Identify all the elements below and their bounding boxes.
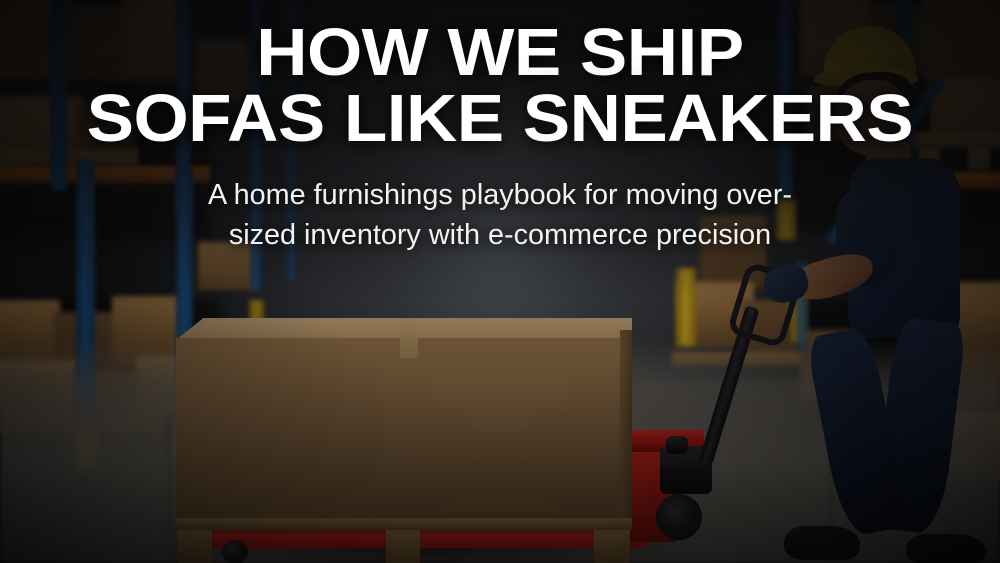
text-overlay: HOW WE SHIP SOFAS LIKE SNEAKERS A home f… bbox=[0, 0, 1000, 563]
page-title: HOW WE SHIP SOFAS LIKE SNEAKERS bbox=[87, 20, 914, 153]
slide-canvas: HOW WE SHIP SOFAS LIKE SNEAKERS A home f… bbox=[0, 0, 1000, 563]
page-subtitle: A home furnishings playbook for moving o… bbox=[177, 175, 823, 256]
